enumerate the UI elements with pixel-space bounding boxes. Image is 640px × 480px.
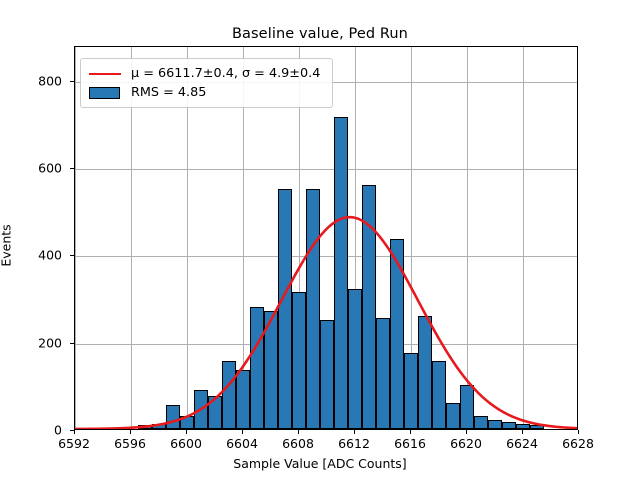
y-tick-label: 0 [0,423,62,438]
y-axis-label: Events [0,224,14,266]
y-tick-label: 800 [0,73,62,88]
y-tick-mark [70,81,74,82]
x-tick-label: 6592 [58,436,90,451]
chart-title: Baseline value, Ped Run [0,26,640,42]
x-tick-label: 6604 [226,436,258,451]
y-tick-mark [70,255,74,256]
legend-item-fit: μ = 6611.7±0.4, σ = 4.9±0.4 [88,64,325,83]
y-tick-label: 200 [0,335,62,350]
x-axis-label: Sample Value [ADC Counts] [0,456,640,471]
x-tick-label: 6620 [450,436,482,451]
x-tick-label: 6624 [506,436,538,451]
x-tick-mark [242,430,243,434]
x-tick-mark [522,430,523,434]
legend-item-rms: RMS = 4.85 [88,83,325,102]
x-tick-mark [298,430,299,434]
x-tick-mark [354,430,355,434]
x-tick-mark [130,430,131,434]
y-tick-mark [70,430,74,431]
y-tick-label: 600 [0,161,62,176]
histogram-figure: Baseline value, Ped Run 6592659666006604… [0,0,640,480]
x-tick-label: 6612 [338,436,370,451]
x-tick-label: 6608 [282,436,314,451]
x-tick-mark [186,430,187,434]
y-tick-mark [70,343,74,344]
x-tick-mark [410,430,411,434]
x-tick-mark [578,430,579,434]
x-tick-label: 6600 [170,436,202,451]
x-tick-label: 6596 [114,436,146,451]
x-tick-label: 6616 [394,436,426,451]
y-tick-mark [70,168,74,169]
x-tick-mark [74,430,75,434]
x-tick-label: 6628 [562,436,594,451]
legend-patch-swatch [88,86,122,100]
legend-label-fit: μ = 6611.7±0.4, σ = 4.9±0.4 [131,66,320,81]
x-tick-mark [466,430,467,434]
fit-curve-path [75,217,577,429]
legend-line-swatch [88,67,122,81]
legend-label-rms: RMS = 4.85 [131,85,206,100]
legend: μ = 6611.7±0.4, σ = 4.9±0.4 RMS = 4.85 [80,58,333,108]
